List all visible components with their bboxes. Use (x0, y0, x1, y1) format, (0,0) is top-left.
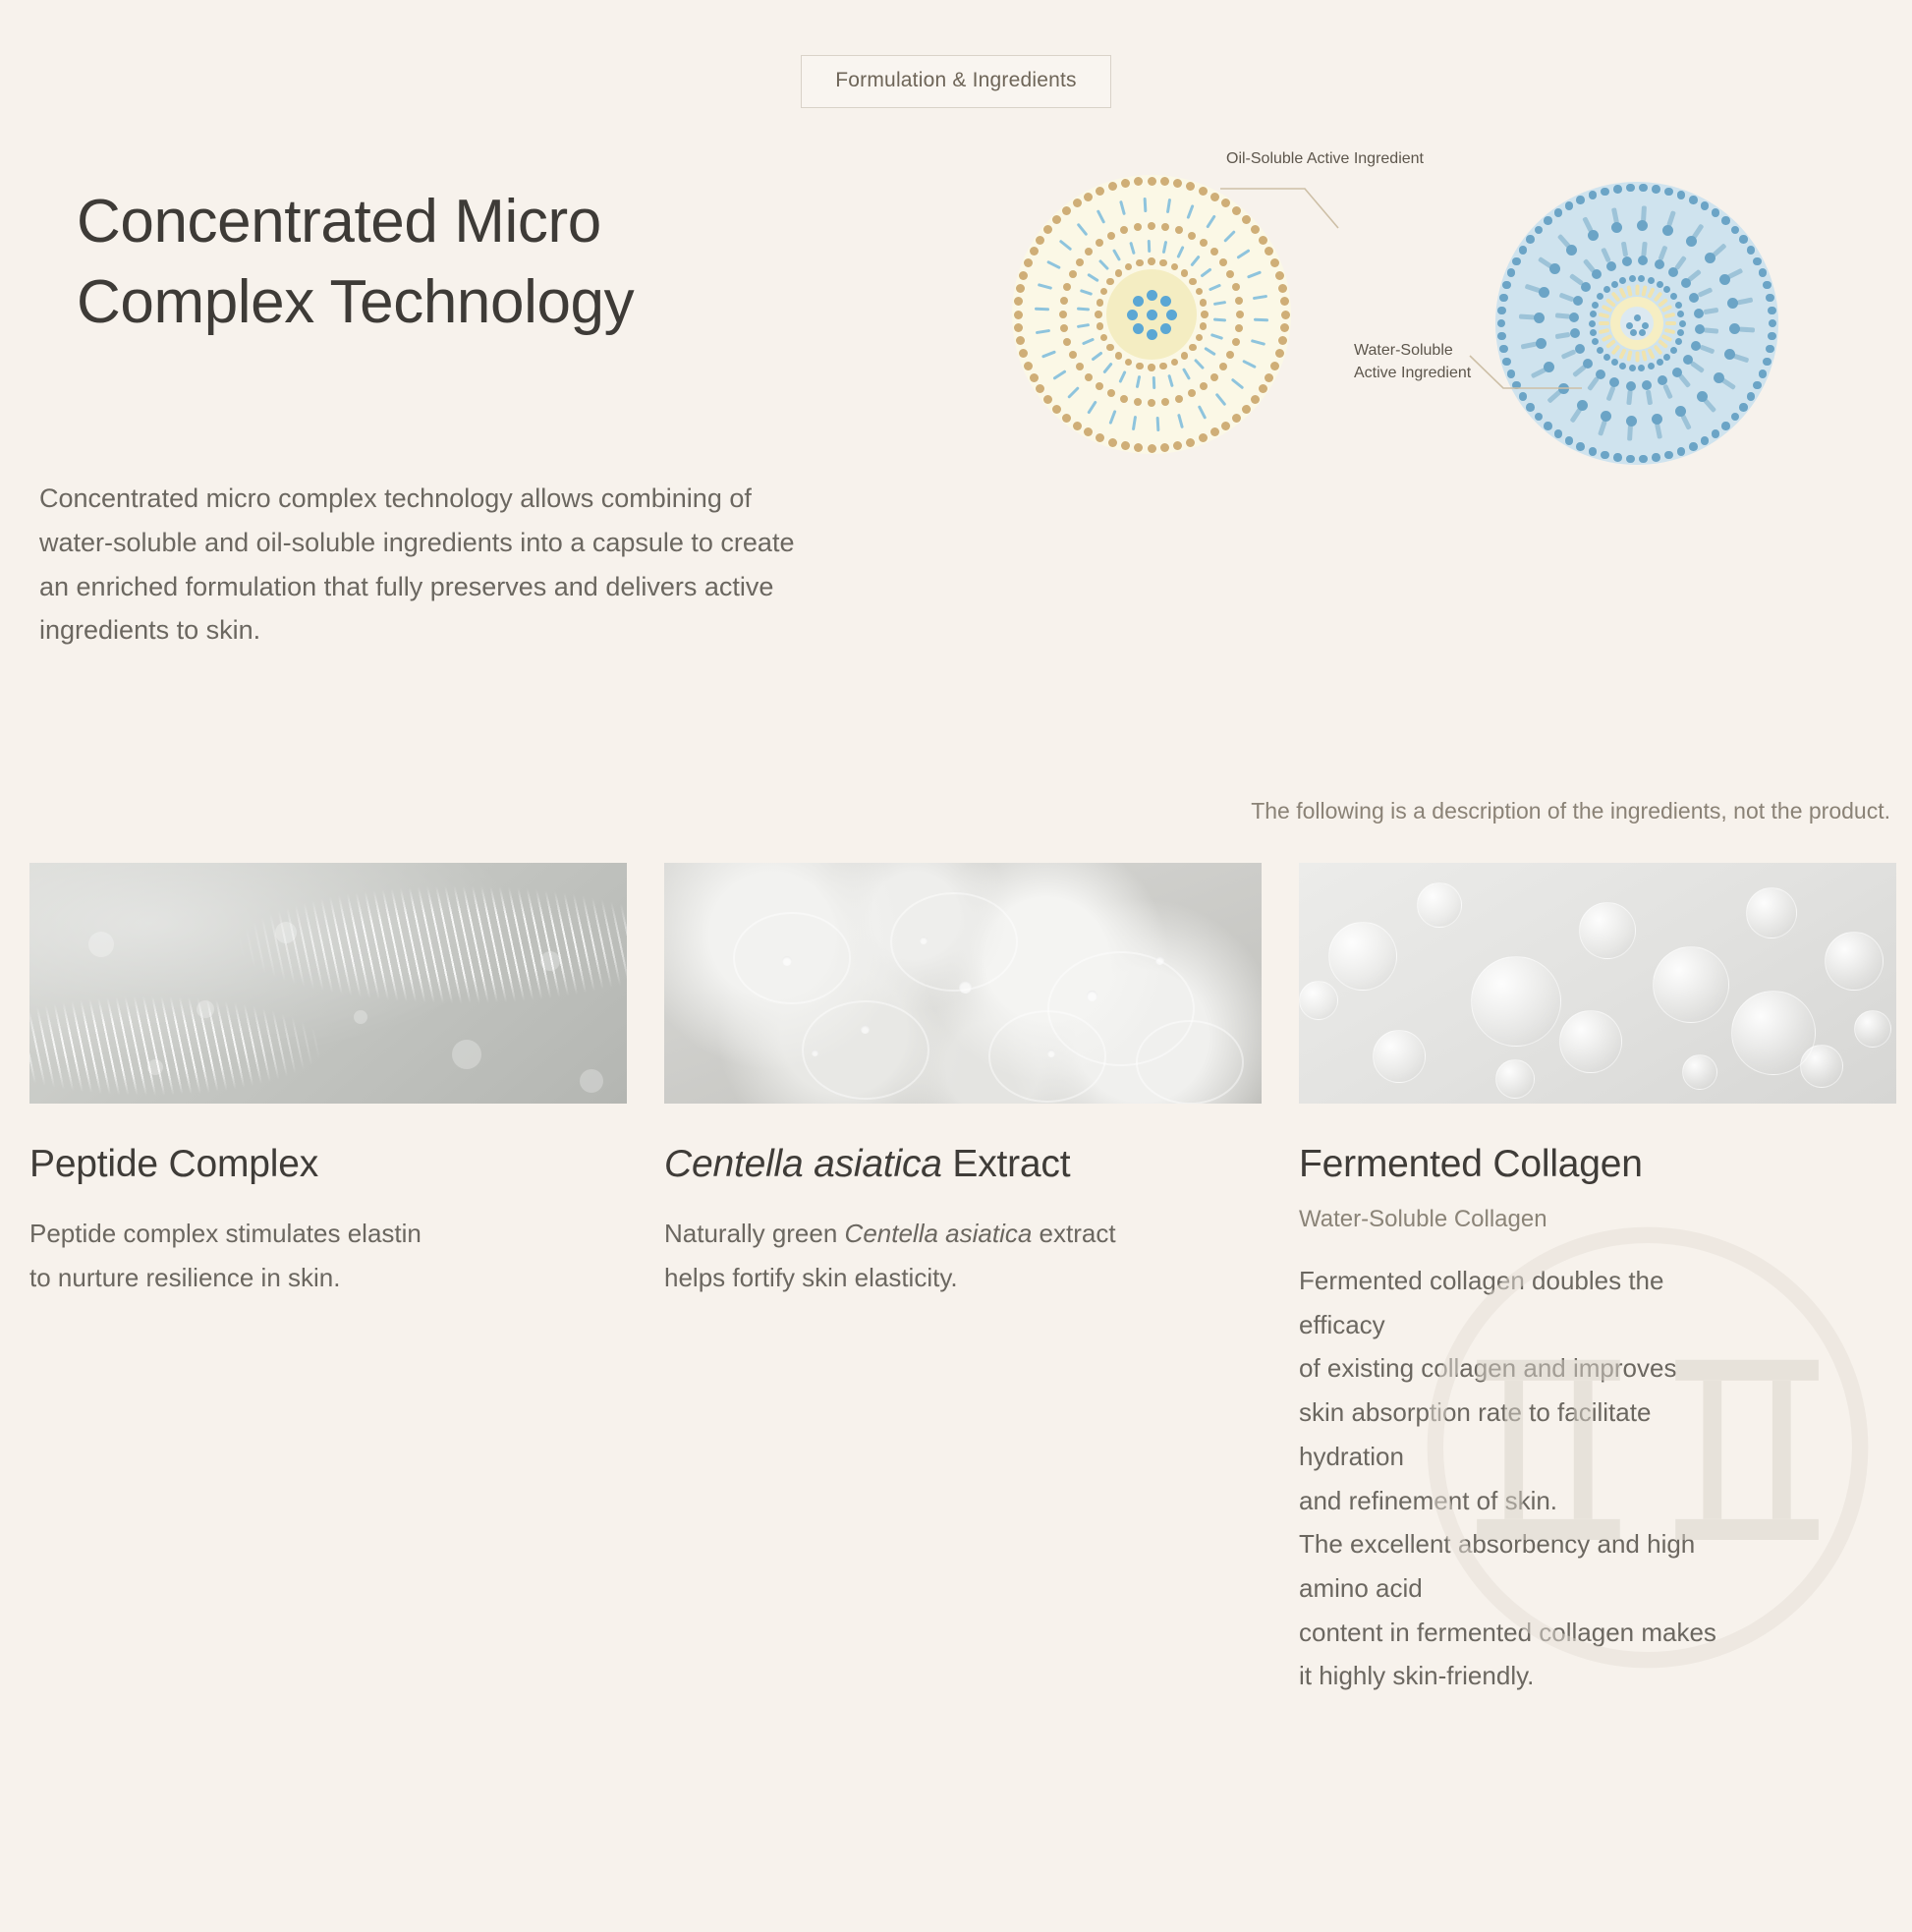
helix-pattern (29, 863, 627, 1104)
card-title: Centella asiatica Extract (664, 1143, 1262, 1186)
card-body-line: of existing collagen and improves (1299, 1346, 1896, 1391)
card-body-prefix: Naturally green (664, 1219, 845, 1248)
card-body: Peptide complex stimulates elastin to nu… (29, 1212, 627, 1299)
oil-bubble (1800, 1045, 1843, 1088)
bokeh-spot (580, 1069, 603, 1093)
centella-leaves-photo (664, 863, 1262, 1104)
card-body-line: hydration (1299, 1435, 1896, 1479)
bokeh-spot (354, 1010, 367, 1024)
card-body-suffix: extract (1032, 1219, 1115, 1248)
card-body-line: efficacy (1299, 1303, 1896, 1347)
leaf-outline (1136, 1020, 1244, 1104)
ingredient-card-peptide-complex: Peptide Complex Peptide complex stimulat… (29, 863, 627, 1698)
leaf-outline (890, 892, 1018, 992)
water-droplet (861, 1025, 870, 1034)
oil-bubble (1328, 922, 1397, 991)
water-soluble-label-line-2: Active Ingredient (1354, 362, 1471, 384)
tab-bar: Formulation & Ingredients (0, 55, 1912, 108)
bokeh-spot (275, 922, 297, 943)
leaf-outline (802, 1000, 929, 1100)
water-droplet (959, 981, 972, 994)
bokeh-spot (452, 1040, 481, 1069)
card-body-line: amino acid (1299, 1566, 1896, 1611)
tab-formulation-ingredients[interactable]: Formulation & Ingredients (801, 55, 1110, 108)
oil-soluble-label: Oil-Soluble Active Ingredient (1226, 147, 1424, 170)
card-body-line: content in fermented collagen makes (1299, 1611, 1896, 1655)
card-title-suffix: Extract (942, 1143, 1071, 1185)
water-soluble-label: Water-Soluble Active Ingredient (1354, 339, 1471, 384)
oil-bubble (1682, 1054, 1717, 1090)
oil-bubble (1417, 882, 1462, 928)
water-droplet (812, 1050, 818, 1056)
ingredient-card-fermented-collagen: Fermented Collagen Water-Soluble Collage… (1299, 863, 1896, 1698)
oil-bubble (1746, 887, 1797, 938)
oil-bubble (1559, 1010, 1622, 1073)
card-title: Fermented Collagen (1299, 1143, 1896, 1186)
oil-bubble (1854, 1010, 1891, 1048)
card-body-line: Fermented collagen doubles the (1299, 1259, 1896, 1303)
ingredient-card-list: Peptide Complex Peptide complex stimulat… (29, 863, 1896, 1698)
dna-helix-photo (29, 863, 627, 1104)
oil-bubbles-photo (1299, 863, 1896, 1104)
card-subtitle: Water-Soluble Collagen (1299, 1206, 1896, 1233)
card-body: Fermented collagen doubles theefficacyof… (1299, 1259, 1896, 1698)
card-body-line: it highly skin-friendly. (1299, 1654, 1896, 1698)
intro-paragraph: Concentrated micro complex technology al… (39, 477, 806, 653)
ingredient-card-centella-asiatica: Centella asiatica Extract Naturally gree… (664, 863, 1262, 1698)
card-body-line: and refinement of skin. (1299, 1479, 1896, 1523)
card-title-scientific-name: Centella asiatica (664, 1143, 942, 1185)
card-body-line-2: to nurture resilience in skin. (29, 1263, 340, 1292)
card-body-line-2: helps fortify skin elasticity. (664, 1263, 958, 1292)
water-droplet (1087, 991, 1097, 1001)
ingredients-disclaimer: The following is a description of the in… (1251, 798, 1890, 824)
leaf-outline (733, 912, 851, 1004)
oil-bubble (1579, 902, 1636, 959)
bokeh-spot (197, 1000, 214, 1018)
card-body-line-1: Peptide complex stimulates elastin (29, 1219, 422, 1248)
water-droplet (1047, 1050, 1055, 1057)
water-droplet (782, 956, 792, 966)
water-droplet (920, 937, 928, 944)
oil-bubble (1471, 956, 1561, 1047)
water-droplet (1155, 956, 1164, 965)
water-soluble-label-line-1: Water-Soluble (1354, 339, 1471, 362)
bokeh-spot (540, 951, 560, 971)
leaf-outline (988, 1010, 1106, 1103)
oil-bubble (1653, 946, 1729, 1023)
oil-bubble (1825, 932, 1884, 991)
bokeh-spot (147, 1059, 163, 1075)
card-body: Naturally green Centella asiatica extrac… (664, 1212, 1262, 1299)
oil-bubble (1373, 1030, 1426, 1083)
card-body-line: skin absorption rate to facilitate (1299, 1391, 1896, 1435)
product-detail-page: Formulation & Ingredients Concentrated M… (0, 0, 1912, 1932)
oil-bubble (1495, 1059, 1535, 1099)
card-title: Peptide Complex (29, 1143, 627, 1186)
page-title-line-2: Complex Technology (77, 268, 634, 336)
card-body-line: The excellent absorbency and high (1299, 1522, 1896, 1566)
page-title: Concentrated Micro Complex Technology (77, 182, 882, 344)
page-title-line-1: Concentrated Micro (77, 188, 601, 256)
oil-bubble (1299, 981, 1338, 1020)
micro-capsule-diagram: Oil-Soluble Active Ingredient Water-Solu… (992, 138, 1896, 550)
card-body-scientific-name: Centella asiatica (845, 1219, 1033, 1248)
bokeh-spot (88, 932, 114, 957)
